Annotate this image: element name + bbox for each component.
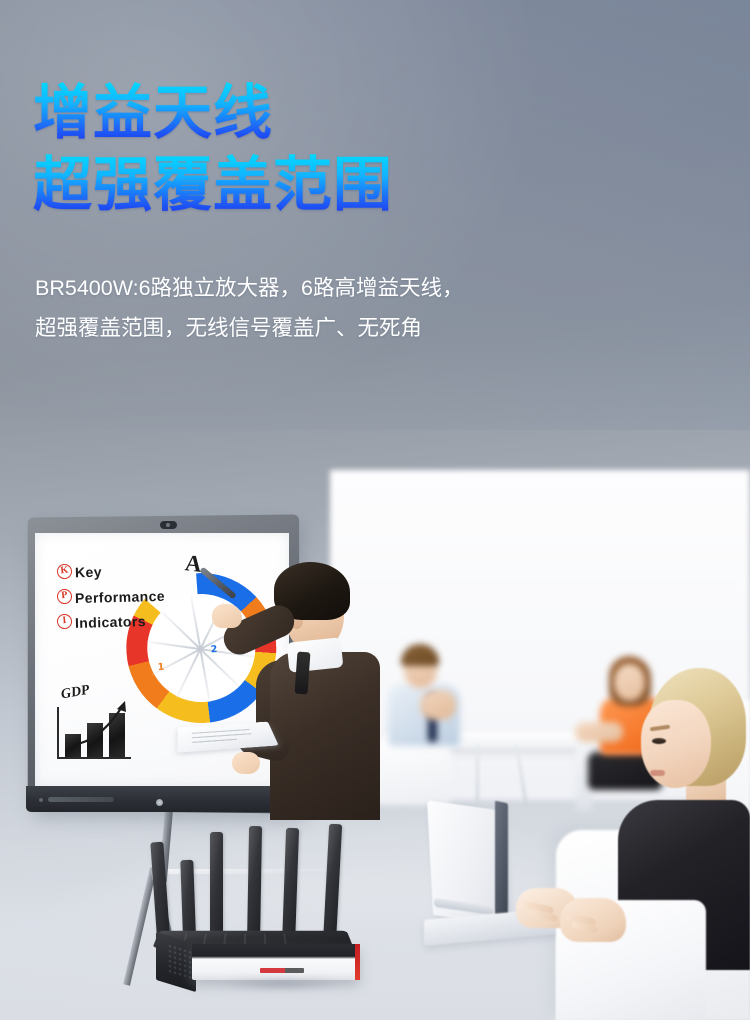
gdp-chart: GDP [53, 685, 149, 765]
kpi-word-performance: Performance [75, 587, 165, 605]
foreground-woman-lip [650, 770, 665, 776]
handwritten-annotation-a: A [184, 550, 203, 578]
router-antenna[interactable] [323, 824, 342, 947]
headline-line-2: 超强覆盖范围 [33, 154, 393, 217]
router-front-panel [192, 944, 360, 980]
router-ridge [244, 934, 246, 945]
presenter-lower-hand [232, 752, 260, 774]
kpi-badge-p: P [56, 588, 72, 604]
router-product[interactable] [148, 818, 364, 986]
presenter-shirt-collar [287, 637, 344, 672]
kpi-badge-i: I [56, 613, 72, 629]
subcopy-line-2: 超强覆盖范围，无线信号覆盖广、无死角 [35, 308, 464, 348]
router-antenna[interactable] [247, 826, 262, 948]
kpi-row: K Key [57, 559, 165, 584]
seated-woman-head [614, 664, 645, 701]
gdp-x-axis [57, 757, 131, 759]
headline-line-1: 增益天线 [33, 82, 393, 145]
presenter-raised-hand [212, 604, 242, 628]
router-ridge [264, 934, 267, 945]
kpi-word-key: Key [75, 563, 102, 580]
camera-icon [160, 521, 177, 529]
gdp-bar [87, 723, 103, 757]
port-strip [48, 797, 114, 802]
subcopy-block: BR5400W:6路独立放大器，6路高增益天线， 超强覆盖范围，无线信号覆盖广、… [35, 268, 464, 348]
gdp-bar [109, 713, 125, 757]
presenter-torso [270, 652, 380, 820]
subcopy-line-1: BR5400W:6路独立放大器，6路高增益天线， [35, 268, 464, 308]
kpi-row: P Performance [57, 584, 165, 609]
gdp-chart-label: GDP [60, 683, 91, 704]
kpi-word-indicators: Indicators [75, 613, 146, 631]
laptop-screen-edge [495, 801, 508, 926]
headline-block: 增益天线 超强覆盖范围 [33, 82, 393, 217]
router-shadow [188, 976, 376, 992]
power-led-icon[interactable] [156, 799, 163, 806]
tablet-line [192, 739, 237, 743]
kpi-row: I Indicators [57, 609, 165, 634]
gdp-y-axis [57, 707, 59, 759]
brand-logo [260, 968, 304, 973]
router-red-accent [355, 944, 360, 980]
kpi-annotation-list: K Key P Performance I Indicators [57, 559, 165, 634]
gdp-bar [65, 734, 81, 757]
whiteboard-bottom-bezel [26, 786, 298, 812]
foreground-woman-eye [652, 738, 666, 744]
tablet-line [192, 733, 252, 738]
router-ridge [203, 934, 207, 945]
router-ridge [223, 934, 226, 945]
seated-man-arm [420, 690, 456, 720]
seated-woman-arm [575, 722, 623, 742]
kpi-badge-k: K [56, 563, 72, 579]
product-banner-page: K Key P Performance I Indicators A [0, 0, 750, 1020]
table-leg [476, 745, 479, 811]
router-ridge [283, 934, 286, 945]
indicator-dot [39, 798, 43, 802]
